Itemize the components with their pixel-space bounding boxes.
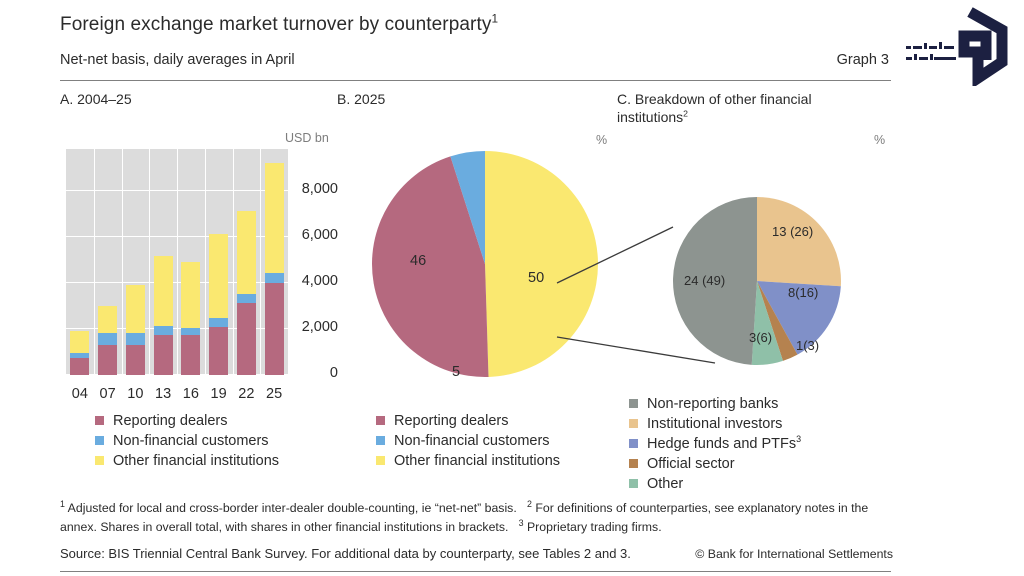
legend-item: Other xyxy=(629,474,801,493)
bar-segment xyxy=(98,306,117,333)
bar-segment xyxy=(209,327,228,375)
bar-stack xyxy=(265,163,284,375)
legend-swatch xyxy=(376,416,385,425)
legend-footnote-marker: 3 xyxy=(796,434,801,444)
x-axis-tick-label: 10 xyxy=(122,386,148,402)
x-axis-tick-label: 19 xyxy=(206,386,232,402)
source-line: Source: BIS Triennial Central Bank Surve… xyxy=(60,546,631,561)
bar-segment xyxy=(181,328,200,336)
legend-item: Reporting dealers xyxy=(95,411,279,430)
legend-swatch xyxy=(629,419,638,428)
y-axis-tick-label: 6,000 xyxy=(292,227,338,243)
legend-label: Reporting dealers xyxy=(113,413,227,429)
bar-segment xyxy=(126,345,145,375)
bar-segment xyxy=(98,333,117,345)
x-axis-tick-label: 07 xyxy=(95,386,121,402)
vertical-gridline xyxy=(233,149,234,375)
pie-slice-label: 46 xyxy=(410,253,426,269)
pie-slice-label: 3(6) xyxy=(749,330,772,345)
legend-swatch xyxy=(629,459,638,468)
legend-label: Institutional investors xyxy=(647,416,782,432)
x-axis-tick-label: 13 xyxy=(150,386,176,402)
footnote-3-marker: 3 xyxy=(519,518,524,528)
vertical-gridline xyxy=(94,149,95,375)
bar-segment xyxy=(237,294,256,303)
bar-stack xyxy=(181,262,200,375)
panel-b-caption: B. 2025 xyxy=(337,91,385,109)
page-subtitle: Net-net basis, daily averages in April xyxy=(60,52,295,68)
pie-slice-label: 13 (26) xyxy=(772,224,813,239)
legend-label: Other xyxy=(647,476,683,492)
legend-item: Institutional investors xyxy=(629,414,801,433)
pie-slice xyxy=(757,197,841,286)
page-title-footnote-marker: 1 xyxy=(491,13,498,26)
page-title: Foreign exchange market turnover by coun… xyxy=(60,14,498,36)
legend-swatch xyxy=(376,436,385,445)
legend-swatch xyxy=(629,439,638,448)
bar-segment xyxy=(209,234,228,317)
legend-swatch xyxy=(629,399,638,408)
footnote-3-text: Proprietary trading firms. xyxy=(527,520,662,534)
panel-b-legend: Reporting dealersNon-financial customers… xyxy=(376,411,560,471)
footnote-1-marker: 1 xyxy=(60,499,65,509)
bar-segment xyxy=(70,331,89,353)
legend-label: Other financial institutions xyxy=(113,453,279,469)
bar-segment xyxy=(126,333,145,345)
legend-swatch xyxy=(95,416,104,425)
pie-slice-label: 5 xyxy=(452,364,460,380)
pie-slice-label: 8(16) xyxy=(788,285,818,300)
legend-swatch xyxy=(95,456,104,465)
page-title-text: Foreign exchange market turnover by coun… xyxy=(60,14,491,35)
bar-segment xyxy=(237,211,256,294)
pie-slice-label: 24 (49) xyxy=(684,273,725,288)
copyright-line: © Bank for International Settlements xyxy=(695,547,893,561)
footnotes-block: 1 Adjusted for local and cross-border in… xyxy=(60,499,895,537)
y-axis-tick-label: 4,000 xyxy=(292,273,338,289)
panel-c-caption-text: C. Breakdown of other financial institut… xyxy=(617,91,812,125)
panel-a-unit-label: USD bn xyxy=(285,131,329,145)
bar-segment xyxy=(265,283,284,375)
bar-segment xyxy=(265,273,284,283)
bar-segment xyxy=(181,262,200,327)
x-axis-tick-label: 22 xyxy=(233,386,259,402)
bar-stack xyxy=(98,306,117,375)
panel-c-unit-label: % xyxy=(874,133,885,147)
vertical-gridline xyxy=(205,149,206,375)
panel-c-legend: Non-reporting banksInstitutional investo… xyxy=(629,394,801,494)
legend-label: Other financial institutions xyxy=(394,453,560,469)
panel-a-caption: A. 2004–25 xyxy=(60,91,132,109)
khane-sarmaye-logo xyxy=(898,6,1018,86)
bar-stack xyxy=(237,211,256,375)
footer-divider xyxy=(60,571,891,572)
footnote-2-marker: 2 xyxy=(527,499,532,509)
panel-c-caption: C. Breakdown of other financial institut… xyxy=(617,91,862,126)
legend-item: Other financial institutions xyxy=(376,451,560,470)
vertical-gridline xyxy=(149,149,150,375)
bar-stack xyxy=(209,234,228,375)
vertical-gridline xyxy=(260,149,261,375)
bar-stack xyxy=(126,285,145,375)
panel-b-unit-label: % xyxy=(596,133,607,147)
panel-a-legend: Reporting dealersNon-financial customers… xyxy=(95,411,279,471)
pie-slice-label: 1(3) xyxy=(796,338,819,353)
x-axis-tick-label: 16 xyxy=(178,386,204,402)
bar-segment xyxy=(265,163,284,274)
bar-stack xyxy=(70,331,89,375)
legend-item: Reporting dealers xyxy=(376,411,560,430)
y-axis-tick-label: 0 xyxy=(292,365,338,381)
legend-swatch xyxy=(376,456,385,465)
legend-item: Hedge funds and PTFs3 xyxy=(629,434,801,453)
legend-item: Official sector xyxy=(629,454,801,473)
bar-segment xyxy=(154,335,173,375)
pie-slice-label: 50 xyxy=(528,270,544,286)
bar-segment xyxy=(209,318,228,327)
graph-number-label: Graph 3 xyxy=(837,52,889,68)
header-divider xyxy=(60,80,891,81)
legend-item: Non-financial customers xyxy=(95,431,279,450)
bar-segment xyxy=(154,326,173,335)
legend-label: Non-financial customers xyxy=(113,433,269,449)
vertical-gridline xyxy=(177,149,178,375)
bar-segment xyxy=(126,285,145,333)
panel-c-footnote-marker: 2 xyxy=(683,108,688,118)
legend-item: Non-reporting banks xyxy=(629,394,801,413)
legend-label: Hedge funds and PTFs3 xyxy=(647,436,801,452)
bar-segment xyxy=(70,358,89,375)
x-axis-tick-label: 25 xyxy=(261,386,287,402)
bar-segment xyxy=(98,345,117,375)
legend-label: Non-financial customers xyxy=(394,433,550,449)
bar-segment xyxy=(237,303,256,375)
legend-label: Reporting dealers xyxy=(394,413,508,429)
footnote-1-text: Adjusted for local and cross-border inte… xyxy=(68,501,517,515)
legend-item: Other financial institutions xyxy=(95,451,279,470)
legend-item: Non-financial customers xyxy=(376,431,560,450)
legend-swatch xyxy=(95,436,104,445)
legend-label: Non-reporting banks xyxy=(647,396,778,412)
y-axis-tick-label: 8,000 xyxy=(292,181,338,197)
panel-a-plot-area xyxy=(66,149,288,375)
bar-segment xyxy=(154,256,173,326)
bar-stack xyxy=(154,256,173,375)
x-axis-tick-label: 04 xyxy=(67,386,93,402)
vertical-gridline xyxy=(122,149,123,375)
legend-label: Official sector xyxy=(647,456,735,472)
bar-segment xyxy=(181,335,200,375)
y-axis-tick-label: 2,000 xyxy=(292,319,338,335)
legend-swatch xyxy=(629,479,638,488)
